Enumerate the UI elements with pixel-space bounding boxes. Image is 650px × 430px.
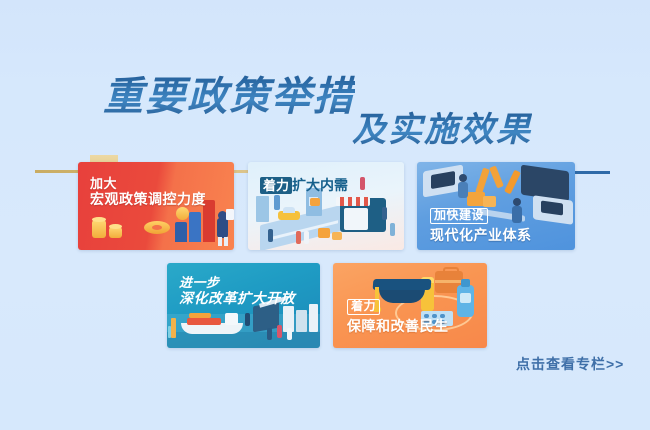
card-livelihood-line2: 保障和改善民生 — [347, 318, 449, 334]
card-deepen-reform[interactable]: 进一步 深化改革扩大开放 — [167, 263, 320, 348]
card-policy-line1: 加大 — [90, 176, 206, 191]
card-improve-livelihood[interactable]: 着力 保障和改善民生 — [333, 263, 487, 348]
card-livelihood-line1: 着力 — [347, 299, 449, 315]
card-policy-line2: 宏观政策调控力度 — [90, 191, 206, 207]
card-reform-line1: 进一步 — [179, 275, 295, 290]
card-demand-line1: 着力 — [260, 177, 292, 194]
banner-title-block: 重要政策举措 及实施效果 — [0, 52, 650, 162]
card-industry-caption: 加快建设 现代化产业体系 — [430, 206, 532, 243]
card-modern-industry[interactable]: 加快建设 现代化产业体系 — [417, 162, 575, 250]
card-demand-illustration — [248, 162, 404, 250]
card-industry-line2: 现代化产业体系 — [430, 227, 532, 243]
page-title-line-2: 及实施效果 — [352, 102, 532, 151]
card-livelihood-caption: 着力 保障和改善民生 — [347, 299, 449, 334]
card-policy-caption: 加大 宏观政策调控力度 — [90, 176, 206, 207]
card-expand-demand[interactable]: 着力扩大内需 — [248, 162, 404, 250]
policy-banner: 重要政策举措 及实施效果 加大 宏观政 — [0, 0, 650, 430]
card-demand-line2: 扩大内需 — [292, 177, 348, 193]
page-title-line-1: 重要政策举措 — [103, 64, 355, 122]
card-demand-caption: 着力扩大内需 — [260, 177, 348, 196]
card-reform-line2: 深化改革扩大开放 — [179, 290, 295, 306]
card-industry-line1: 加快建设 — [430, 208, 488, 224]
card-macro-policy[interactable]: 加大 宏观政策调控力度 — [78, 162, 234, 250]
card-reform-caption: 进一步 深化改革扩大开放 — [179, 275, 295, 306]
view-column-link[interactable]: 点击查看专栏>> — [516, 354, 624, 374]
